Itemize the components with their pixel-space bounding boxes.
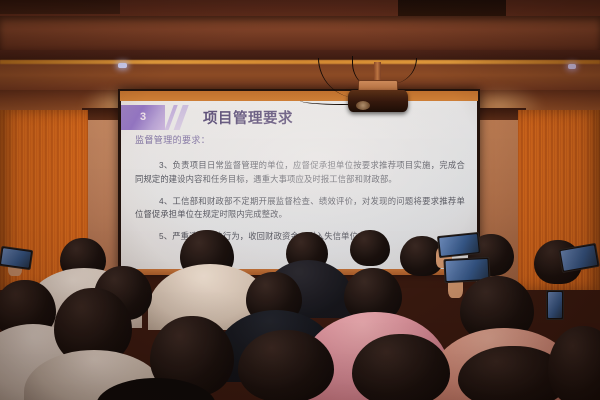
- slide-subtitle: 监督管理的要求：: [135, 133, 210, 146]
- slide-paragraph: 4、工信部和财政部不定期开展监督检查、绩效评价，对发现的问题将要求推荐单位督促承…: [135, 195, 465, 222]
- projector-body: [348, 90, 408, 112]
- audience-head: [350, 230, 390, 266]
- screen-top-border: [120, 91, 478, 101]
- presentation-room-photo: 3 项目管理要求 监督管理的要求： 3、负责项目日常监督管理的单位，应督促承担单…: [0, 0, 600, 400]
- audience-phone: [558, 243, 600, 273]
- audience-phone: [546, 290, 564, 320]
- audience-head: [238, 330, 334, 400]
- audience-phone: [0, 246, 33, 270]
- title-slash-decoration: [165, 105, 191, 130]
- audience-head: [548, 326, 600, 400]
- audience-head: [352, 334, 450, 400]
- cove-light-strip: [0, 60, 600, 64]
- audience: [0, 230, 600, 400]
- ceiling-vent-left: [0, 0, 120, 14]
- ceiling-beam: [0, 16, 600, 50]
- slide-paragraph: 3、负责项目日常监督管理的单位，应督促承担单位按要求推荐项目实施，完成合同规定的…: [135, 159, 465, 186]
- ceiling-spotlight-right: [568, 64, 576, 69]
- slide-title-row: 3 项目管理要求: [121, 105, 477, 130]
- slide-number-text: 3: [140, 112, 146, 123]
- audience-phone: [437, 232, 481, 258]
- ceiling-spotlight-left: [118, 63, 127, 68]
- slide-number-badge: 3: [121, 105, 165, 130]
- slide-title: 项目管理要求: [203, 107, 293, 128]
- wall-soffit: [0, 60, 600, 90]
- projector-lens-icon: [356, 101, 370, 110]
- ceiling: [0, 0, 600, 60]
